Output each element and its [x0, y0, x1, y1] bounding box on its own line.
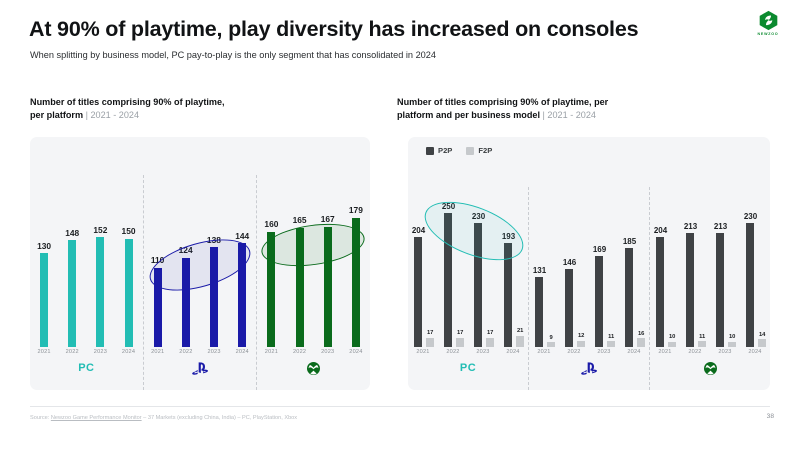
bar-column-f2p[interactable]: 12: [577, 333, 585, 347]
platform-label-playstation: [144, 355, 257, 381]
playstation-logo-icon: [192, 362, 209, 375]
grouped-bar-cell[interactable]: 20410: [654, 226, 676, 347]
bar-cell[interactable]: 150: [122, 226, 136, 347]
left-caption-line1: Number of titles comprising 90% of playt…: [30, 97, 225, 107]
right-caption-years: | 2021 - 2024: [543, 110, 596, 120]
bar-value-label-p2p: 213: [714, 222, 727, 231]
left-caption-line2: per platform: [30, 110, 83, 120]
bar-value-label: 124: [179, 245, 193, 255]
bar-value-label: 148: [65, 228, 79, 238]
page-number: 38: [767, 413, 774, 420]
bar-column-f2p[interactable]: 10: [728, 334, 736, 347]
grouped-bar-cell[interactable]: 21311: [684, 222, 706, 347]
bar-column-f2p[interactable]: 17: [486, 330, 494, 347]
grouped-bar-cell[interactable]: 1319: [533, 266, 555, 347]
pc-label-icon: PC: [78, 362, 94, 374]
bar[interactable]: [125, 239, 133, 347]
bar-value-label: 160: [264, 219, 278, 229]
bar-value-label-f2p: 21: [517, 328, 523, 334]
grouped-bar-cell[interactable]: 21310: [714, 222, 736, 347]
grouped-bar-cell[interactable]: 20417: [412, 226, 434, 347]
bar[interactable]: [96, 237, 104, 347]
platform-label-xbox: [257, 355, 370, 381]
xbox-logo-icon: [307, 362, 320, 375]
left-chart-panel: 1301481521502021202220232024PC1101241381…: [30, 137, 370, 390]
bar-cell[interactable]: 144: [235, 231, 249, 347]
bar-column-f2p[interactable]: 9: [547, 335, 555, 347]
bar-column-f2p[interactable]: 14: [758, 332, 766, 347]
bar-value-label-p2p: 204: [412, 226, 425, 235]
bar-value-label: 165: [293, 215, 307, 225]
page-subtitle: When splitting by business model, PC pay…: [30, 50, 436, 60]
source-prefix: Source:: [30, 415, 51, 421]
bar-cell[interactable]: 179: [349, 205, 363, 347]
bar-value-label: 167: [321, 214, 335, 224]
bar-p2p[interactable]: [746, 223, 754, 347]
bar-column-f2p[interactable]: 17: [426, 330, 434, 347]
bar-p2p[interactable]: [444, 213, 452, 347]
bar-value-label-f2p: 17: [427, 330, 433, 336]
bar-value-label: 150: [122, 226, 136, 236]
bar-column-p2p[interactable]: 230: [744, 212, 757, 347]
bar-value-label-p2p: 213: [684, 222, 697, 231]
footer-divider: [30, 406, 770, 407]
left-year-axis: 2021202220232024: [144, 347, 257, 355]
left-year-axis: 2021202220232024: [257, 347, 370, 355]
bar-column-p2p[interactable]: 146: [563, 258, 576, 347]
bar-column-f2p[interactable]: 16: [637, 331, 645, 347]
bar-p2p[interactable]: [686, 233, 694, 347]
right-caption-line1: Number of titles comprising 90% of playt…: [397, 97, 608, 107]
bar[interactable]: [210, 247, 218, 347]
right-plot-row: 1319146121691118516: [529, 187, 649, 347]
bar-column-p2p[interactable]: 213: [714, 222, 727, 347]
bar-column-p2p[interactable]: 204: [654, 226, 667, 347]
bar-value-label-f2p: 10: [669, 334, 675, 340]
left-chart-caption: Number of titles comprising 90% of playt…: [30, 96, 225, 122]
bar-f2p[interactable]: [456, 338, 464, 347]
bar-column-f2p[interactable]: 11: [698, 334, 706, 347]
bar-p2p[interactable]: [504, 243, 512, 347]
right-year-axis: 2021202220232024: [650, 347, 770, 355]
right-plot-row: 20417250172301719321: [408, 187, 528, 347]
bar-p2p[interactable]: [656, 237, 664, 347]
bar-column-p2p[interactable]: 185: [623, 237, 636, 347]
playstation-logo-icon: [581, 362, 598, 375]
bar-f2p[interactable]: [698, 341, 706, 347]
bar-cell[interactable]: 167: [321, 214, 335, 347]
source-suffix: – 37 Markets (excluding China, India) – …: [142, 415, 297, 421]
bar-value-label-f2p: 17: [487, 330, 493, 336]
bar-value-label-f2p: 11: [608, 334, 614, 340]
bar-p2p[interactable]: [535, 277, 543, 347]
bar-f2p[interactable]: [758, 339, 766, 347]
bar-cell[interactable]: 110: [151, 255, 165, 347]
newzoo-wordmark: NEWZOO: [758, 32, 779, 36]
grouped-bar-cell[interactable]: 23017: [472, 212, 494, 347]
bar-value-label: 152: [93, 225, 107, 235]
right-plot-row: 20410213112131023014: [650, 187, 770, 347]
bar-cell[interactable]: 165: [293, 215, 307, 347]
bar-column-f2p[interactable]: 17: [456, 330, 464, 347]
bar-p2p[interactable]: [414, 237, 422, 347]
right-year-axis: 2021202220232024: [408, 347, 528, 355]
newzoo-mark-icon: [758, 10, 779, 31]
bar-p2p[interactable]: [595, 256, 603, 347]
left-plot-row: 160165167179: [257, 175, 370, 347]
bar-value-label: 179: [349, 205, 363, 215]
bar-cell[interactable]: 148: [65, 228, 79, 347]
grouped-bar-cell[interactable]: 14612: [563, 258, 585, 347]
bar[interactable]: [154, 268, 162, 347]
bar-value-label-p2p: 204: [654, 226, 667, 235]
bar-value-label-f2p: 10: [729, 334, 735, 340]
bar-value-label-f2p: 12: [578, 333, 584, 339]
platform-label-pc: PC: [30, 355, 143, 381]
bar-column-f2p[interactable]: 11: [607, 334, 615, 347]
bar-value-label-p2p: 131: [533, 266, 546, 275]
source-note: Source: Newzoo Game Performance Monitor …: [30, 415, 297, 421]
bar-value-label-p2p: 230: [472, 212, 485, 221]
bar-column-f2p[interactable]: 21: [516, 328, 524, 347]
newzoo-logo: NEWZOO: [748, 8, 788, 38]
left-group-xbox: 1601651671792021202220232024: [256, 175, 370, 390]
bar-value-label-p2p: 230: [744, 212, 757, 221]
bar-f2p[interactable]: [486, 338, 494, 347]
bar[interactable]: [296, 228, 304, 347]
platform-label-pc: PC: [408, 355, 528, 381]
bar-column-f2p[interactable]: 10: [668, 334, 676, 347]
bar-p2p[interactable]: [716, 233, 724, 347]
bar-column-p2p[interactable]: 213: [684, 222, 697, 347]
left-year-axis: 2021202220232024: [30, 347, 143, 355]
bar-value-label-f2p: 16: [638, 331, 644, 337]
bar[interactable]: [182, 258, 190, 347]
bar-value-label-p2p: 185: [623, 237, 636, 246]
bar-value-label: 144: [235, 231, 249, 241]
bar-cell[interactable]: 152: [93, 225, 107, 347]
bar-f2p[interactable]: [426, 338, 434, 347]
bar[interactable]: [68, 240, 76, 347]
right-chart-caption: Number of titles comprising 90% of playt…: [397, 96, 608, 122]
right-chart-panel: P2PF2P 204172501723017193212021202220232…: [408, 137, 770, 390]
left-caption-years: | 2021 - 2024: [86, 110, 139, 120]
bar-p2p[interactable]: [474, 223, 482, 347]
grouped-bar-cell[interactable]: 25017: [442, 202, 464, 347]
bar-f2p[interactable]: [607, 341, 615, 347]
bar[interactable]: [324, 227, 332, 348]
grouped-bar-cell[interactable]: 16911: [593, 245, 615, 347]
bar-value-label: 130: [37, 241, 51, 251]
bar-column-p2p[interactable]: 193: [502, 232, 515, 347]
bar-column-p2p[interactable]: 169: [593, 245, 606, 347]
platform-label-xbox: [650, 355, 770, 381]
platform-label-playstation: [529, 355, 649, 381]
bar-cell[interactable]: 138: [207, 235, 221, 347]
bar-value-label: 138: [207, 235, 221, 245]
bar-cell[interactable]: 160: [264, 219, 278, 347]
bar-value-label-f2p: 17: [457, 330, 463, 336]
bar-value-label-p2p: 193: [502, 232, 515, 241]
bar-f2p[interactable]: [547, 342, 555, 347]
right-group-pc: 204172501723017193212021202220232024PC: [408, 187, 528, 390]
bar-column-p2p[interactable]: 204: [412, 226, 425, 347]
bar-value-label-f2p: 9: [550, 335, 553, 341]
bar-p2p[interactable]: [565, 269, 573, 347]
bar-f2p[interactable]: [516, 336, 524, 347]
bar-cell[interactable]: 124: [179, 245, 193, 347]
right-year-axis: 2021202220232024: [529, 347, 649, 355]
bar-column-p2p[interactable]: 131: [533, 266, 546, 347]
bar-value-label-p2p: 146: [563, 258, 576, 267]
bar-f2p[interactable]: [637, 338, 645, 347]
bar-p2p[interactable]: [625, 248, 633, 347]
bar[interactable]: [238, 243, 246, 347]
page-title: At 90% of playtime, play diversity has i…: [29, 17, 638, 42]
grouped-bar-cell[interactable]: 18516: [623, 237, 645, 347]
slide: At 90% of playtime, play diversity has i…: [0, 0, 800, 450]
bar-cell[interactable]: 130: [37, 241, 51, 347]
right-caption-line2: platform and per business model: [397, 110, 540, 120]
left-group-playstation: 1101241381442021202220232024: [143, 175, 257, 390]
source-link[interactable]: Newzoo Game Performance Monitor: [51, 415, 142, 421]
bar-value-label-f2p: 14: [759, 332, 765, 338]
bar-value-label-p2p: 250: [442, 202, 455, 211]
left-plot-row: 110124138144: [144, 175, 257, 347]
bar-value-label-p2p: 169: [593, 245, 606, 254]
grouped-bar-cell[interactable]: 19321: [502, 232, 524, 347]
right-group-playstation: 13191461216911185162021202220232024: [528, 187, 649, 390]
bar[interactable]: [352, 218, 360, 347]
bar[interactable]: [40, 253, 48, 347]
bar-f2p[interactable]: [577, 341, 585, 347]
bar[interactable]: [267, 232, 275, 347]
left-chart-groups: 1301481521502021202220232024PC1101241381…: [30, 137, 370, 390]
right-chart-groups: 204172501723017193212021202220232024PC13…: [408, 137, 770, 390]
right-group-xbox: 204102131121310230142021202220232024: [649, 187, 770, 390]
left-group-pc: 1301481521502021202220232024PC: [30, 175, 143, 390]
bar-column-p2p[interactable]: 230: [472, 212, 485, 347]
bar-value-label: 110: [151, 255, 165, 265]
bar-column-p2p[interactable]: 250: [442, 202, 455, 347]
xbox-logo-icon: [704, 362, 717, 375]
bar-f2p[interactable]: [728, 342, 736, 347]
grouped-bar-cell[interactable]: 23014: [744, 212, 766, 347]
bar-f2p[interactable]: [668, 342, 676, 347]
left-plot-row: 130148152150: [30, 175, 143, 347]
pc-label-icon: PC: [460, 362, 476, 374]
bar-value-label-f2p: 11: [699, 334, 705, 340]
